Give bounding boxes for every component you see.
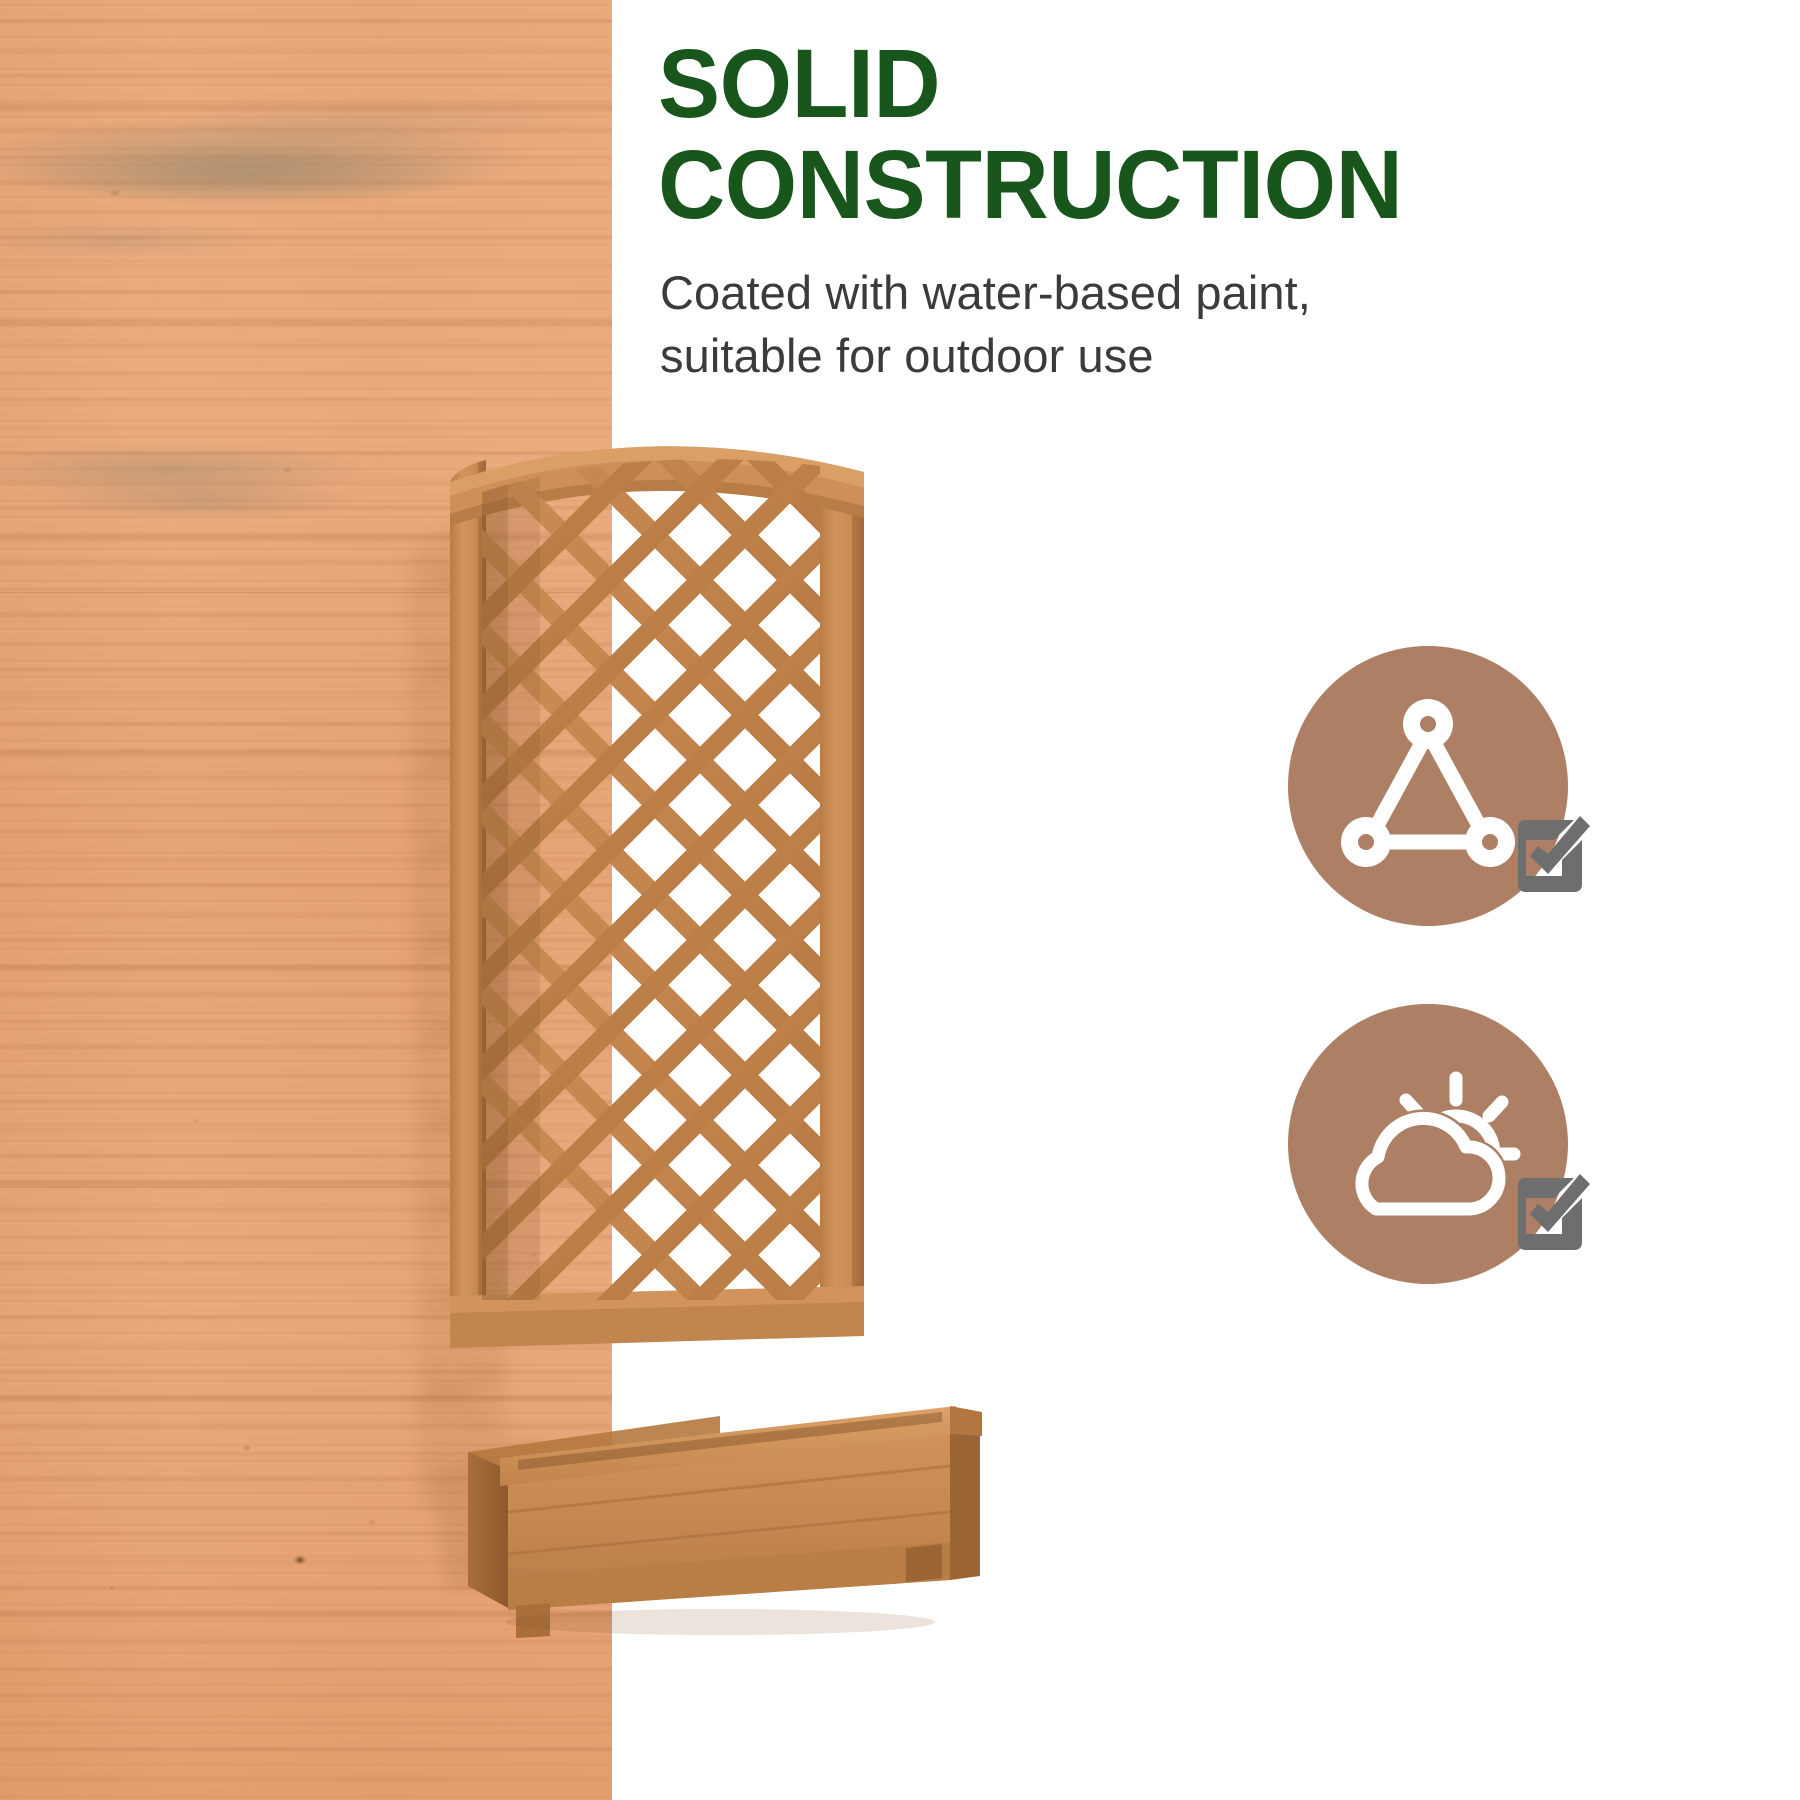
page-title: SOLID CONSTRUCTION	[658, 34, 1724, 236]
trellis-planter-illustration	[390, 430, 1030, 1640]
product-feature-banner: SOLID CONSTRUCTION Coated with water-bas…	[0, 0, 1800, 1800]
checkbox-checked-icon	[1510, 1170, 1598, 1258]
product-image	[390, 430, 1030, 1640]
feature-badge-solid-structure	[1288, 646, 1578, 936]
feature-badge-weather-resistant	[1288, 1004, 1578, 1294]
checkbox-checked-icon	[1510, 812, 1598, 900]
page-subtitle: Coated with water-based paint, suitable …	[660, 262, 1480, 387]
